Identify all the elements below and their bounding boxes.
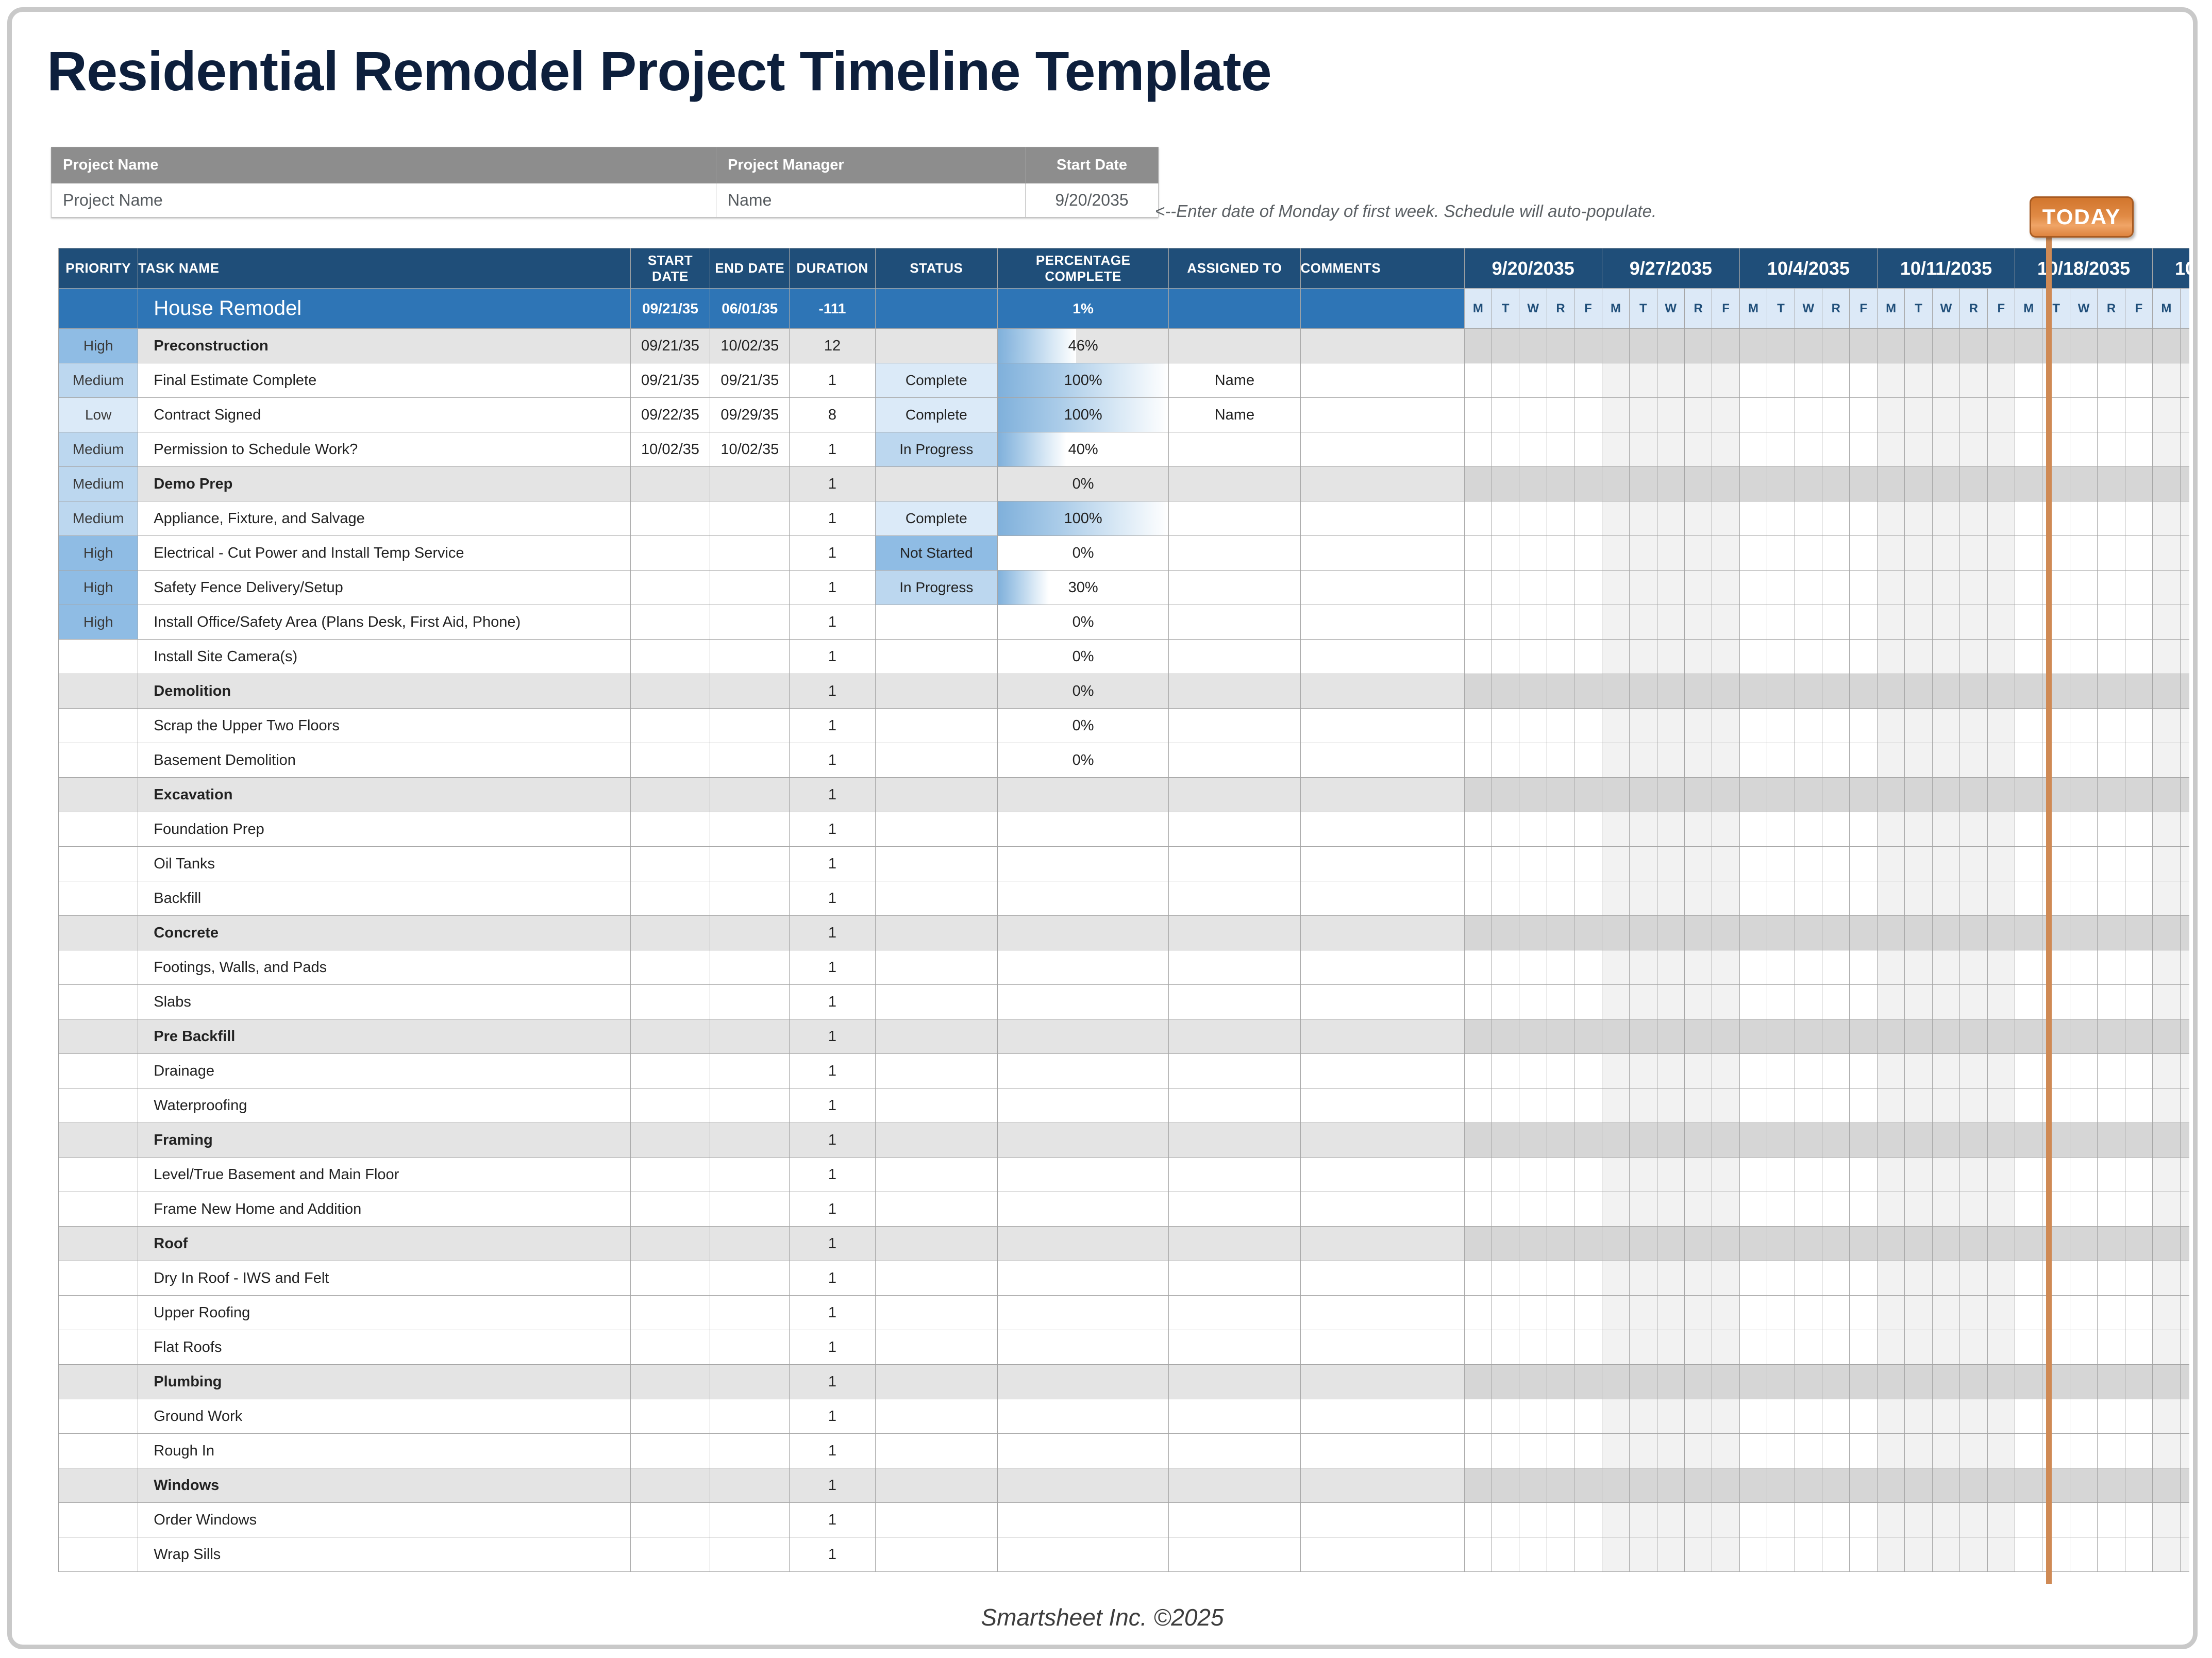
gantt-day-cell[interactable] [1712, 501, 1739, 536]
gantt-day-cell[interactable] [1492, 778, 1519, 812]
gantt-day-cell[interactable] [2042, 1537, 2070, 1572]
gantt-day-cell[interactable] [1684, 640, 1712, 674]
cell-status[interactable] [875, 674, 997, 709]
gantt-day-cell[interactable] [1602, 1468, 1629, 1503]
gantt-day-cell[interactable] [1492, 1399, 1519, 1434]
cell-start-date[interactable] [630, 1434, 710, 1468]
cell-task-name[interactable]: Slabs [138, 985, 631, 1019]
cell-duration[interactable]: 1 [790, 1537, 875, 1572]
gantt-day-cell[interactable] [1657, 1399, 1684, 1434]
gantt-day-cell[interactable] [2180, 1330, 2189, 1365]
cell-percentage-complete[interactable] [997, 1434, 1168, 1468]
gantt-day-cell[interactable] [1850, 674, 1877, 709]
gantt-day-cell[interactable] [1684, 605, 1712, 640]
cell-status[interactable] [875, 1227, 997, 1261]
gantt-day-cell[interactable] [1795, 1434, 1822, 1468]
gantt-day-cell[interactable] [2180, 1192, 2189, 1227]
gantt-day-cell[interactable] [1602, 1158, 1629, 1192]
gantt-day-cell[interactable] [1712, 1537, 1739, 1572]
gantt-day-cell[interactable] [2070, 467, 2097, 501]
gantt-day-cell[interactable] [1850, 1434, 1877, 1468]
gantt-day-cell[interactable] [1657, 674, 1684, 709]
gantt-day-cell[interactable] [1767, 1468, 1795, 1503]
gantt-day-cell[interactable] [2098, 812, 2125, 847]
gantt-day-cell[interactable] [1960, 812, 1987, 847]
gantt-day-cell[interactable] [1519, 1261, 1547, 1296]
gantt-day-cell[interactable] [2125, 1088, 2152, 1123]
col-header-comments[interactable]: COMMENTS [1300, 248, 1464, 289]
gantt-day-cell[interactable] [1602, 1261, 1629, 1296]
task-row[interactable]: Footings, Walls, and Pads1 [59, 950, 2190, 985]
cell-assigned-to[interactable]: Name [1169, 363, 1300, 398]
cell-start-date[interactable] [630, 536, 710, 571]
gantt-day-cell[interactable] [1905, 1192, 1932, 1227]
gantt-day-cell[interactable] [1767, 778, 1795, 812]
gantt-day-cell[interactable] [2015, 1192, 2042, 1227]
col-header-task-name[interactable]: TASK NAME [138, 248, 631, 289]
gantt-day-cell[interactable] [1519, 501, 1547, 536]
gantt-day-cell[interactable] [1547, 847, 1574, 881]
gantt-day-cell[interactable] [1767, 1261, 1795, 1296]
gantt-day-cell[interactable] [1712, 743, 1739, 778]
gantt-day-cell[interactable] [2015, 674, 2042, 709]
gantt-day-cell[interactable] [1739, 1503, 1767, 1537]
gantt-day-cell[interactable] [1795, 950, 1822, 985]
gantt-day-cell[interactable] [1767, 1123, 1795, 1158]
task-row[interactable]: MediumAppliance, Fixture, and Salvage1Co… [59, 501, 2190, 536]
cell-comments[interactable] [1300, 812, 1464, 847]
cell-comments[interactable] [1300, 1192, 1464, 1227]
gantt-day-cell[interactable] [2098, 1399, 2125, 1434]
gantt-day-cell[interactable] [1657, 1158, 1684, 1192]
cell-comments[interactable] [1300, 847, 1464, 881]
gantt-day-cell[interactable] [2042, 916, 2070, 950]
gantt-day-cell[interactable] [2125, 1365, 2152, 1399]
gantt-day-cell[interactable] [1795, 881, 1822, 916]
gantt-day-cell[interactable] [1822, 743, 1850, 778]
gantt-day-cell[interactable] [1767, 1088, 1795, 1123]
gantt-day-cell[interactable] [2098, 605, 2125, 640]
gantt-day-cell[interactable] [1767, 709, 1795, 743]
cell-comments[interactable] [1300, 674, 1464, 709]
gantt-day-cell[interactable] [1602, 1399, 1629, 1434]
gantt-day-cell[interactable] [2098, 398, 2125, 432]
gantt-day-cell[interactable] [1630, 1054, 1657, 1088]
gantt-day-cell[interactable] [1492, 847, 1519, 881]
gantt-day-cell[interactable] [2015, 1503, 2042, 1537]
cell-percentage-complete[interactable]: 30% [997, 571, 1168, 605]
gantt-day-cell[interactable] [1492, 1123, 1519, 1158]
cell-comments[interactable] [1300, 432, 1464, 467]
gantt-day-cell[interactable] [1987, 1123, 2015, 1158]
gantt-day-cell[interactable] [1684, 536, 1712, 571]
gantt-day-cell[interactable] [1877, 1296, 1904, 1330]
task-row[interactable]: Ground Work1 [59, 1399, 2190, 1434]
gantt-day-cell[interactable] [2070, 916, 2097, 950]
gantt-day-cell[interactable] [1822, 1434, 1850, 1468]
gantt-day-cell[interactable] [1987, 432, 2015, 467]
gantt-day-cell[interactable] [1960, 1158, 1987, 1192]
cell-assigned-to[interactable] [1169, 812, 1300, 847]
task-section-row[interactable]: Windows1 [59, 1468, 2190, 1503]
gantt-day-cell[interactable] [1795, 743, 1822, 778]
gantt-day-cell[interactable] [1960, 1434, 1987, 1468]
gantt-day-cell[interactable] [2180, 950, 2189, 985]
cell-end-date[interactable] [710, 812, 790, 847]
gantt-day-cell[interactable] [1877, 571, 1904, 605]
gantt-day-cell[interactable] [2070, 640, 2097, 674]
gantt-day-cell[interactable] [1630, 536, 1657, 571]
gantt-day-cell[interactable] [1767, 1434, 1795, 1468]
gantt-day-cell[interactable] [1574, 985, 1602, 1019]
gantt-day-cell[interactable] [1684, 571, 1712, 605]
gantt-day-cell[interactable] [2180, 1227, 2189, 1261]
cell-duration[interactable]: 1 [790, 363, 875, 398]
gantt-day-cell[interactable] [1519, 1088, 1547, 1123]
gantt-day-cell[interactable] [1960, 571, 1987, 605]
gantt-day-cell[interactable] [2015, 1537, 2042, 1572]
gantt-day-cell[interactable] [1602, 1365, 1629, 1399]
gantt-day-cell[interactable] [2070, 432, 2097, 467]
cell-duration[interactable]: 1 [790, 709, 875, 743]
gantt-day-cell[interactable] [2125, 640, 2152, 674]
cell-end-date[interactable] [710, 467, 790, 501]
gantt-day-cell[interactable] [1932, 1019, 1959, 1054]
gantt-day-cell[interactable] [1547, 1503, 1574, 1537]
gantt-day-cell[interactable] [1519, 1537, 1547, 1572]
cell-comments[interactable] [1300, 1227, 1464, 1261]
gantt-day-cell[interactable] [1712, 674, 1739, 709]
gantt-day-cell[interactable] [1767, 985, 1795, 1019]
gantt-day-cell[interactable] [1960, 1330, 1987, 1365]
gantt-day-cell[interactable] [1932, 467, 1959, 501]
cell-task-name[interactable]: Drainage [138, 1054, 631, 1088]
gantt-day-cell[interactable] [1657, 709, 1684, 743]
gantt-day-cell[interactable] [1712, 812, 1739, 847]
gantt-day-cell[interactable] [1519, 1123, 1547, 1158]
cell-percentage-complete[interactable] [997, 985, 1168, 1019]
gantt-day-cell[interactable] [1684, 1227, 1712, 1261]
gantt-day-cell[interactable] [1795, 1296, 1822, 1330]
gantt-day-cell[interactable] [1574, 674, 1602, 709]
gantt-day-cell[interactable] [1850, 985, 1877, 1019]
project-name-field[interactable]: Project Name [52, 183, 716, 217]
gantt-day-cell[interactable] [1987, 363, 2015, 398]
gantt-day-cell[interactable] [1960, 363, 1987, 398]
gantt-day-cell[interactable] [1712, 1503, 1739, 1537]
cell-comments[interactable] [1300, 916, 1464, 950]
task-row[interactable]: HighElectrical - Cut Power and Install T… [59, 536, 2190, 571]
cell-end-date[interactable]: 10/02/35 [710, 329, 790, 363]
gantt-day-cell[interactable] [1630, 1537, 1657, 1572]
cell-comments[interactable] [1300, 1537, 1464, 1572]
cell-status[interactable] [875, 743, 997, 778]
gantt-day-cell[interactable] [1630, 985, 1657, 1019]
cell-percentage-complete[interactable]: 100% [997, 398, 1168, 432]
cell-percentage-complete[interactable] [997, 1227, 1168, 1261]
gantt-day-cell[interactable] [2125, 1261, 2152, 1296]
gantt-day-cell[interactable] [1905, 985, 1932, 1019]
cell-percentage-complete[interactable] [997, 1019, 1168, 1054]
gantt-day-cell[interactable] [2153, 1192, 2180, 1227]
gantt-day-cell[interactable] [1684, 1537, 1712, 1572]
gantt-day-cell[interactable] [1547, 640, 1574, 674]
gantt-day-cell[interactable] [1630, 1192, 1657, 1227]
task-section-row[interactable]: Concrete1 [59, 916, 2190, 950]
cell-end-date[interactable] [710, 1192, 790, 1227]
cell-start-date[interactable] [630, 916, 710, 950]
cell-end-date[interactable] [710, 1054, 790, 1088]
gantt-day-cell[interactable] [1712, 847, 1739, 881]
cell-end-date[interactable] [710, 605, 790, 640]
gantt-day-cell[interactable] [1877, 1192, 1904, 1227]
gantt-day-cell[interactable] [1464, 847, 1492, 881]
cell-duration[interactable]: 1 [790, 1468, 875, 1503]
gantt-day-cell[interactable] [1739, 1537, 1767, 1572]
gantt-day-cell[interactable] [1767, 398, 1795, 432]
gantt-day-cell[interactable] [1822, 640, 1850, 674]
cell-task-name[interactable]: Oil Tanks [138, 847, 631, 881]
gantt-day-cell[interactable] [1739, 536, 1767, 571]
gantt-day-cell[interactable] [2180, 1468, 2189, 1503]
gantt-day-cell[interactable] [1822, 398, 1850, 432]
cell-duration[interactable]: 8 [790, 398, 875, 432]
cell-assigned-to[interactable] [1169, 1296, 1300, 1330]
gantt-day-cell[interactable] [1822, 1296, 1850, 1330]
gantt-day-cell[interactable] [2015, 743, 2042, 778]
gantt-day-cell[interactable] [1519, 571, 1547, 605]
gantt-day-cell[interactable] [2125, 674, 2152, 709]
gantt-day-cell[interactable] [1739, 847, 1767, 881]
gantt-day-cell[interactable] [2153, 1503, 2180, 1537]
gantt-day-cell[interactable] [1657, 1227, 1684, 1261]
gantt-day-cell[interactable] [2098, 1365, 2125, 1399]
cell-end-date[interactable]: 10/02/35 [710, 432, 790, 467]
gantt-day-cell[interactable] [1602, 1434, 1629, 1468]
gantt-day-cell[interactable] [1492, 1296, 1519, 1330]
cell-comments[interactable] [1300, 1365, 1464, 1399]
gantt-day-cell[interactable] [1739, 1227, 1767, 1261]
gantt-day-cell[interactable] [1932, 1123, 1959, 1158]
cell-start-date[interactable] [630, 1503, 710, 1537]
gantt-day-cell[interactable] [2098, 1503, 2125, 1537]
col-header-percentage-complete[interactable]: PERCENTAGE COMPLETE [997, 248, 1168, 289]
gantt-day-cell[interactable] [1739, 812, 1767, 847]
cell-status[interactable] [875, 1503, 997, 1537]
gantt-day-cell[interactable] [1492, 1261, 1519, 1296]
cell-comments[interactable] [1300, 605, 1464, 640]
gantt-day-cell[interactable] [1850, 329, 1877, 363]
gantt-day-cell[interactable] [2153, 1261, 2180, 1296]
gantt-day-cell[interactable] [2125, 432, 2152, 467]
gantt-day-cell[interactable] [1795, 1537, 1822, 1572]
cell-assigned-to[interactable] [1169, 1261, 1300, 1296]
gantt-day-cell[interactable] [2180, 1088, 2189, 1123]
gantt-day-cell[interactable] [1684, 467, 1712, 501]
cell-percentage-complete[interactable] [997, 1123, 1168, 1158]
gantt-day-cell[interactable] [1932, 1330, 1959, 1365]
cell-end-date[interactable] [710, 1296, 790, 1330]
cell-start-date[interactable] [630, 847, 710, 881]
gantt-day-cell[interactable] [2153, 950, 2180, 985]
gantt-day-cell[interactable] [1932, 847, 1959, 881]
cell-priority[interactable]: High [59, 536, 138, 571]
project-manager-field[interactable]: Name [716, 183, 1026, 217]
gantt-day-cell[interactable] [1519, 640, 1547, 674]
gantt-day-cell[interactable] [1850, 398, 1877, 432]
gantt-day-cell[interactable] [1932, 398, 1959, 432]
gantt-day-cell[interactable] [1739, 1399, 1767, 1434]
gantt-day-cell[interactable] [2042, 674, 2070, 709]
col-header-priority[interactable]: PRIORITY [59, 248, 138, 289]
gantt-day-cell[interactable] [1767, 1192, 1795, 1227]
cell-comments[interactable] [1300, 398, 1464, 432]
gantt-day-cell[interactable] [1630, 1088, 1657, 1123]
gantt-day-cell[interactable] [1657, 778, 1684, 812]
cell-percentage-complete[interactable]: 0% [997, 467, 1168, 501]
gantt-day-cell[interactable] [1850, 363, 1877, 398]
cell-start-date[interactable] [630, 881, 710, 916]
gantt-day-cell[interactable] [1492, 605, 1519, 640]
gantt-day-cell[interactable] [1602, 432, 1629, 467]
gantt-day-cell[interactable] [1630, 1399, 1657, 1434]
cell-end-date[interactable] [710, 985, 790, 1019]
gantt-day-cell[interactable] [2070, 398, 2097, 432]
gantt-day-cell[interactable] [1960, 1365, 1987, 1399]
gantt-day-cell[interactable] [2015, 1296, 2042, 1330]
gantt-day-cell[interactable] [1932, 1227, 1959, 1261]
gantt-day-cell[interactable] [2042, 985, 2070, 1019]
gantt-day-cell[interactable] [1712, 536, 1739, 571]
gantt-day-cell[interactable] [1960, 605, 1987, 640]
gantt-day-cell[interactable] [1905, 432, 1932, 467]
gantt-day-cell[interactable] [1877, 1261, 1904, 1296]
gantt-day-cell[interactable] [1850, 1019, 1877, 1054]
gantt-day-cell[interactable] [1630, 1468, 1657, 1503]
gantt-day-cell[interactable] [1987, 812, 2015, 847]
gantt-day-cell[interactable] [1767, 916, 1795, 950]
gantt-day-cell[interactable] [1905, 1158, 1932, 1192]
gantt-day-cell[interactable] [1657, 847, 1684, 881]
cell-percentage-complete[interactable]: 0% [997, 743, 1168, 778]
cell-percentage-complete[interactable] [997, 950, 1168, 985]
gantt-day-cell[interactable] [1574, 1261, 1602, 1296]
gantt-day-cell[interactable] [1602, 1123, 1629, 1158]
gantt-day-cell[interactable] [1932, 812, 1959, 847]
gantt-day-cell[interactable] [1657, 812, 1684, 847]
cell-start-date[interactable] [630, 640, 710, 674]
gantt-day-cell[interactable] [1547, 1434, 1574, 1468]
gantt-day-cell[interactable] [1960, 536, 1987, 571]
cell-status[interactable] [875, 640, 997, 674]
gantt-day-cell[interactable] [2180, 571, 2189, 605]
gantt-day-cell[interactable] [1932, 985, 1959, 1019]
cell-end-date[interactable] [710, 1158, 790, 1192]
cell-priority[interactable] [59, 1192, 138, 1227]
gantt-day-cell[interactable] [2098, 1227, 2125, 1261]
gantt-day-cell[interactable] [1602, 536, 1629, 571]
gantt-day-cell[interactable] [1877, 1537, 1904, 1572]
gantt-day-cell[interactable] [1492, 916, 1519, 950]
gantt-day-cell[interactable] [2098, 501, 2125, 536]
cell-duration[interactable]: 1 [790, 985, 875, 1019]
gantt-day-cell[interactable] [2153, 674, 2180, 709]
gantt-day-cell[interactable] [1630, 640, 1657, 674]
cell-percentage-complete[interactable] [997, 1261, 1168, 1296]
cell-task-name[interactable]: Pre Backfill [138, 1019, 631, 1054]
gantt-day-cell[interactable] [2070, 1227, 2097, 1261]
gantt-day-cell[interactable] [1905, 950, 1932, 985]
cell-duration[interactable]: 1 [790, 847, 875, 881]
cell-comments[interactable] [1300, 1054, 1464, 1088]
gantt-day-cell[interactable] [2125, 985, 2152, 1019]
gantt-day-cell[interactable] [1739, 640, 1767, 674]
task-row[interactable]: Backfill1 [59, 881, 2190, 916]
gantt-day-cell[interactable] [1767, 571, 1795, 605]
gantt-day-cell[interactable] [1492, 640, 1519, 674]
gantt-day-cell[interactable] [2180, 674, 2189, 709]
col-header-start-date[interactable]: START DATE [630, 248, 710, 289]
gantt-day-cell[interactable] [1905, 329, 1932, 363]
gantt-day-cell[interactable] [2015, 467, 2042, 501]
gantt-day-cell[interactable] [1767, 1019, 1795, 1054]
cell-priority[interactable] [59, 743, 138, 778]
gantt-day-cell[interactable] [1960, 1503, 1987, 1537]
gantt-day-cell[interactable] [1795, 329, 1822, 363]
cell-duration[interactable]: 1 [790, 467, 875, 501]
gantt-day-cell[interactable] [1932, 1537, 1959, 1572]
gantt-day-cell[interactable] [1932, 1158, 1959, 1192]
cell-percentage-complete[interactable] [997, 1399, 1168, 1434]
gantt-day-cell[interactable] [2098, 1296, 2125, 1330]
gantt-day-cell[interactable] [1464, 1123, 1492, 1158]
gantt-day-cell[interactable] [1987, 1088, 2015, 1123]
gantt-day-cell[interactable] [1767, 881, 1795, 916]
gantt-day-cell[interactable] [2180, 1123, 2189, 1158]
gantt-day-cell[interactable] [2015, 1054, 2042, 1088]
gantt-day-cell[interactable] [1932, 743, 1959, 778]
gantt-day-cell[interactable] [2125, 1227, 2152, 1261]
gantt-day-cell[interactable] [1547, 1088, 1574, 1123]
gantt-day-cell[interactable] [1932, 1434, 1959, 1468]
gantt-day-cell[interactable] [1767, 1330, 1795, 1365]
cell-assigned-to[interactable] [1169, 1434, 1300, 1468]
gantt-day-cell[interactable] [1987, 1227, 2015, 1261]
gantt-day-cell[interactable] [1519, 1468, 1547, 1503]
gantt-day-cell[interactable] [1932, 709, 1959, 743]
gantt-day-cell[interactable] [2180, 881, 2189, 916]
gantt-day-cell[interactable] [2070, 812, 2097, 847]
cell-task-name[interactable]: Scrap the Upper Two Floors [138, 709, 631, 743]
gantt-day-cell[interactable] [1905, 1054, 1932, 1088]
gantt-day-cell[interactable] [1657, 640, 1684, 674]
gantt-day-cell[interactable] [1932, 1054, 1959, 1088]
gantt-day-cell[interactable] [1987, 1434, 2015, 1468]
cell-task-name[interactable]: Dry In Roof - IWS and Felt [138, 1261, 631, 1296]
gantt-day-cell[interactable] [1960, 950, 1987, 985]
gantt-day-cell[interactable] [1822, 1019, 1850, 1054]
cell-assigned-to[interactable] [1169, 536, 1300, 571]
gantt-day-cell[interactable] [2180, 1296, 2189, 1330]
gantt-day-cell[interactable] [1712, 916, 1739, 950]
gantt-day-cell[interactable] [2070, 985, 2097, 1019]
gantt-day-cell[interactable] [1795, 812, 1822, 847]
gantt-day-cell[interactable] [2070, 881, 2097, 916]
cell-start-date[interactable] [630, 1192, 710, 1227]
cell-percentage-complete[interactable] [997, 1088, 1168, 1123]
gantt-day-cell[interactable] [1630, 467, 1657, 501]
gantt-day-cell[interactable] [1630, 743, 1657, 778]
